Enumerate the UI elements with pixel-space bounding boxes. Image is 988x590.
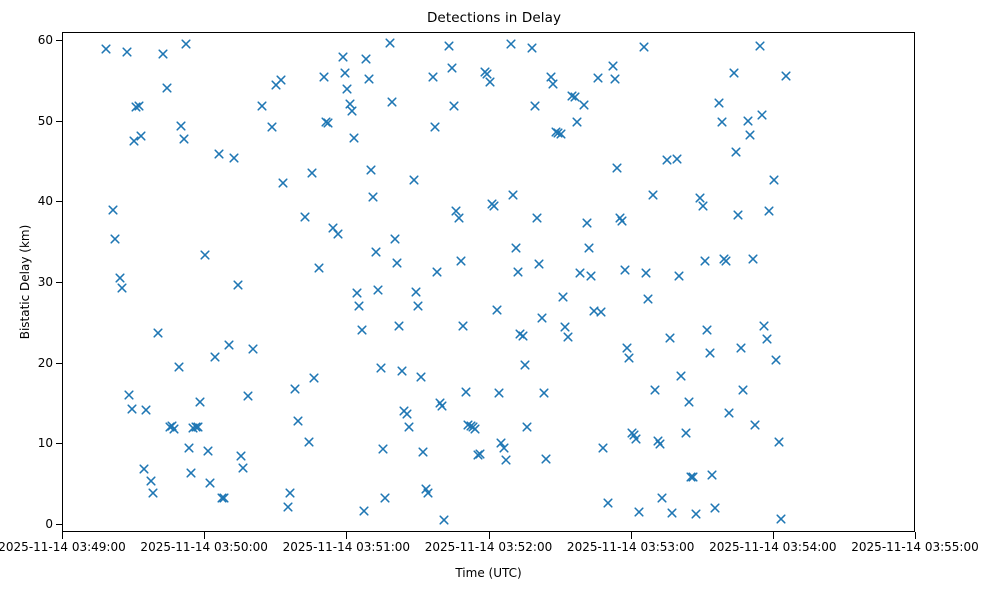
x-tick-label: 2025-11-14 03:50:00 [140,540,267,554]
y-tick-mark [56,524,63,525]
y-tick-mark [56,443,63,444]
x-tick-label: 2025-11-14 03:55:00 [851,540,978,554]
x-tick-mark [346,532,347,539]
y-tick-label: 50 [38,114,53,128]
y-tick-label: 0 [45,517,53,531]
x-tick-mark [62,532,63,539]
y-tick-mark [56,40,63,41]
y-tick-mark [56,121,63,122]
y-tick-label: 60 [38,33,53,47]
y-tick-label: 30 [38,275,53,289]
x-tick-label: 2025-11-14 03:52:00 [425,540,552,554]
x-tick-label: 2025-11-14 03:51:00 [283,540,410,554]
y-axis-tick-labels: 0102030405060 [0,0,53,590]
y-tick-label: 20 [38,356,53,370]
x-tick-mark [915,532,916,539]
y-tick-mark [56,363,63,364]
scatter-layer [63,33,916,533]
y-tick-label: 40 [38,194,53,208]
x-tick-mark [773,532,774,539]
x-tick-mark [489,532,490,539]
page-title: Detections in Delay [0,10,988,26]
x-axis-label: Time (UTC) [62,566,915,580]
plot-axes [62,32,915,532]
x-tick-mark [204,532,205,539]
x-tick-label: 2025-11-14 03:54:00 [709,540,836,554]
x-tick-mark [631,532,632,539]
y-tick-mark [56,282,63,283]
matplotlib-figure: Detections in Delay Bistatic Delay (km) … [0,0,988,590]
y-tick-mark [56,201,63,202]
x-tick-label: 2025-11-14 03:49:00 [0,540,126,554]
y-tick-label: 10 [38,436,53,450]
x-tick-label: 2025-11-14 03:53:00 [567,540,694,554]
